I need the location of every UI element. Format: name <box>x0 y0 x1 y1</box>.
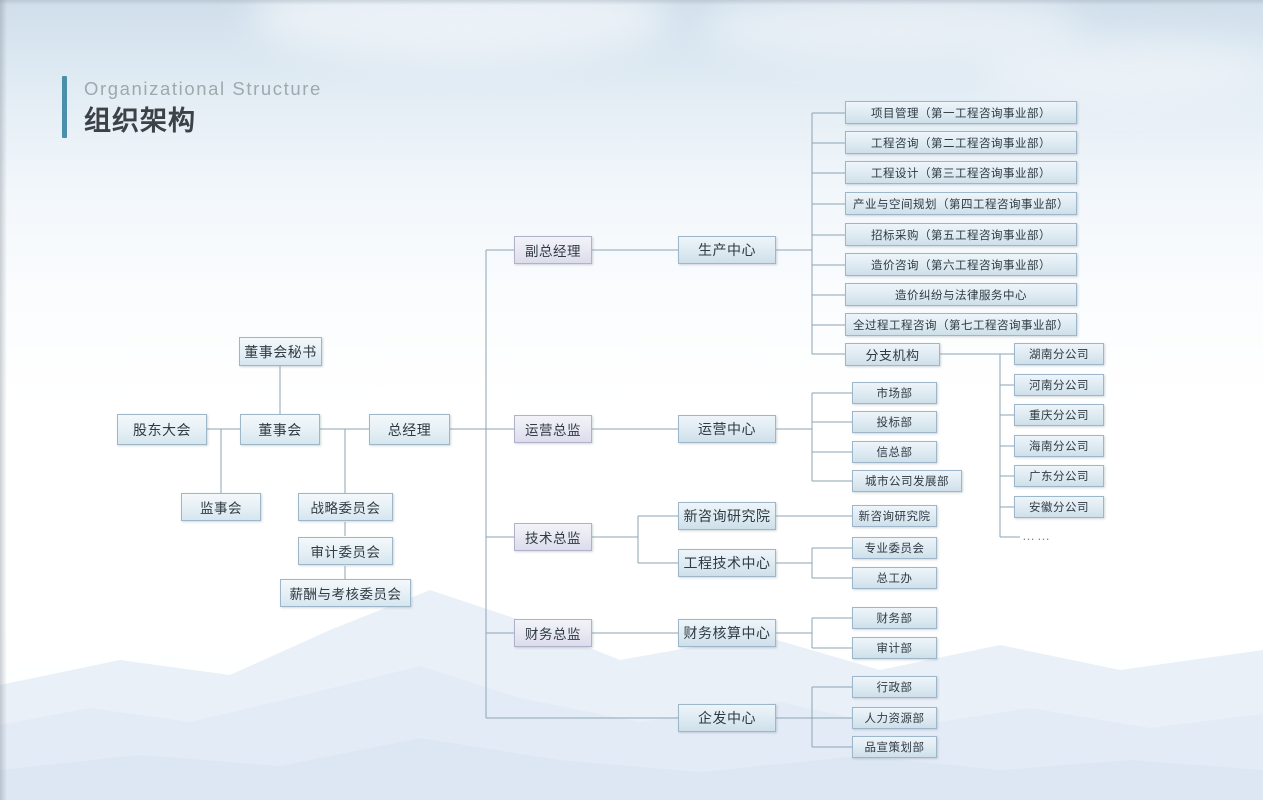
node-enterprise-unit[interactable]: 人力资源部 <box>852 707 937 729</box>
node-operations-director[interactable]: 运营总监 <box>514 415 592 443</box>
node-operations-unit[interactable]: 投标部 <box>852 411 937 433</box>
node-branch-company[interactable]: 湖南分公司 <box>1014 343 1104 365</box>
node-production-unit[interactable]: 工程设计（第三工程咨询事业部） <box>845 161 1077 184</box>
node-branch-company[interactable]: 河南分公司 <box>1014 374 1104 396</box>
node-production-unit[interactable]: 造价咨询（第六工程咨询事业部） <box>845 253 1077 276</box>
node-production-unit[interactable]: 招标采购（第五工程咨询事业部） <box>845 223 1077 246</box>
node-strategy-committee[interactable]: 战略委员会 <box>298 493 393 521</box>
node-research-unit[interactable]: 新咨询研究院 <box>852 505 937 527</box>
node-branch-company[interactable]: 广东分公司 <box>1014 465 1104 487</box>
node-branches[interactable]: 分支机构 <box>845 343 940 366</box>
node-branch-company[interactable]: 重庆分公司 <box>1014 404 1104 426</box>
node-finance-accounting-center[interactable]: 财务核算中心 <box>678 619 776 647</box>
node-finance-director[interactable]: 财务总监 <box>514 619 592 647</box>
node-production-unit[interactable]: 工程咨询（第二工程咨询事业部） <box>845 131 1077 154</box>
slide-canvas: Organizational Structure 组织架构 <box>0 0 1263 800</box>
node-enterprise-dev-center[interactable]: 企发中心 <box>678 704 776 732</box>
node-audit-committee[interactable]: 审计委员会 <box>298 537 393 565</box>
node-operations-unit[interactable]: 城市公司发展部 <box>852 470 962 492</box>
node-engineering-tech-center[interactable]: 工程技术中心 <box>678 549 776 577</box>
node-operations-center[interactable]: 运营中心 <box>678 415 776 443</box>
node-board-secretary[interactable]: 董事会秘书 <box>239 337 322 366</box>
node-research-institute[interactable]: 新咨询研究院 <box>678 502 776 530</box>
node-production-unit[interactable]: 项目管理（第一工程咨询事业部） <box>845 101 1077 124</box>
node-finance-unit[interactable]: 财务部 <box>852 607 937 629</box>
node-production-unit[interactable]: 产业与空间规划（第四工程咨询事业部） <box>845 192 1077 215</box>
node-general-manager[interactable]: 总经理 <box>369 414 450 445</box>
node-branch-company[interactable]: 安徽分公司 <box>1014 496 1104 518</box>
node-engineering-unit[interactable]: 专业委员会 <box>852 537 937 559</box>
node-board[interactable]: 董事会 <box>240 414 320 445</box>
node-deputy-general-manager[interactable]: 副总经理 <box>514 236 592 264</box>
node-engineering-unit[interactable]: 总工办 <box>852 567 937 589</box>
node-production-unit[interactable]: 全过程工程咨询（第七工程咨询事业部） <box>845 313 1077 336</box>
node-supervisors[interactable]: 监事会 <box>181 493 261 521</box>
node-shareholders[interactable]: 股东大会 <box>117 414 207 445</box>
node-technical-director[interactable]: 技术总监 <box>514 523 592 551</box>
node-branch-company[interactable]: 海南分公司 <box>1014 435 1104 457</box>
node-compensation-committee[interactable]: 薪酬与考核委员会 <box>280 579 411 607</box>
branch-more-indicator: …… <box>1022 528 1052 543</box>
node-finance-unit[interactable]: 审计部 <box>852 637 937 659</box>
node-operations-unit[interactable]: 信总部 <box>852 441 937 463</box>
node-enterprise-unit[interactable]: 行政部 <box>852 676 937 698</box>
node-production-center[interactable]: 生产中心 <box>678 236 776 264</box>
org-chart: 董事会秘书 股东大会 董事会 总经理 监事会 战略委员会 审计委员会 薪酬与考核… <box>0 0 1263 800</box>
node-production-unit[interactable]: 造价纠纷与法律服务中心 <box>845 283 1077 306</box>
node-enterprise-unit[interactable]: 品宣策划部 <box>852 736 937 758</box>
node-operations-unit[interactable]: 市场部 <box>852 382 937 404</box>
